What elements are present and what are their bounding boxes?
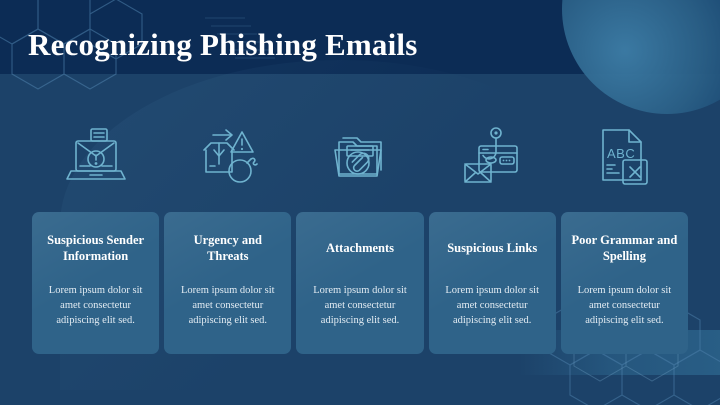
card-body: Lorem ipsum dolor sit amet consectetur a… <box>570 284 679 329</box>
card-attachments[interactable]: Attachments Lorem ipsum dolor sit amet c… <box>296 212 423 354</box>
laptop-email-lock-icon <box>32 118 159 196</box>
card-title: Suspicious Links <box>438 226 547 270</box>
svg-text:ABC: ABC <box>607 146 635 161</box>
card-title: Urgency and Threats <box>173 226 282 270</box>
slide-canvas: Recognizing Phishing Emails <box>0 0 720 405</box>
browser-phishing-hook-icon <box>429 118 556 196</box>
card-suspicious-sender-information[interactable]: Suspicious Sender Information Lorem ipsu… <box>32 212 159 354</box>
icon-row: ABC <box>32 118 688 196</box>
card-poor-grammar-and-spelling[interactable]: Poor Grammar and Spelling Lorem ipsum do… <box>561 212 688 354</box>
card-body: Lorem ipsum dolor sit amet consectetur a… <box>41 284 150 329</box>
page-title: Recognizing Phishing Emails <box>28 27 418 63</box>
card-body: Lorem ipsum dolor sit amet consectetur a… <box>305 284 414 329</box>
card-body: Lorem ipsum dolor sit amet consectetur a… <box>173 284 282 329</box>
card-title: Poor Grammar and Spelling <box>570 226 679 270</box>
card-urgency-and-threats[interactable]: Urgency and Threats Lorem ipsum dolor si… <box>164 212 291 354</box>
document-abc-error-icon: ABC <box>561 118 688 196</box>
card-row: Suspicious Sender Information Lorem ipsu… <box>32 212 688 354</box>
card-title: Suspicious Sender Information <box>41 226 150 270</box>
card-suspicious-links[interactable]: Suspicious Links Lorem ipsum dolor sit a… <box>429 212 556 354</box>
folder-paperclip-icon <box>296 118 423 196</box>
box-warning-bomb-icon <box>164 118 291 196</box>
card-title: Attachments <box>305 226 414 270</box>
card-body: Lorem ipsum dolor sit amet consectetur a… <box>438 284 547 329</box>
